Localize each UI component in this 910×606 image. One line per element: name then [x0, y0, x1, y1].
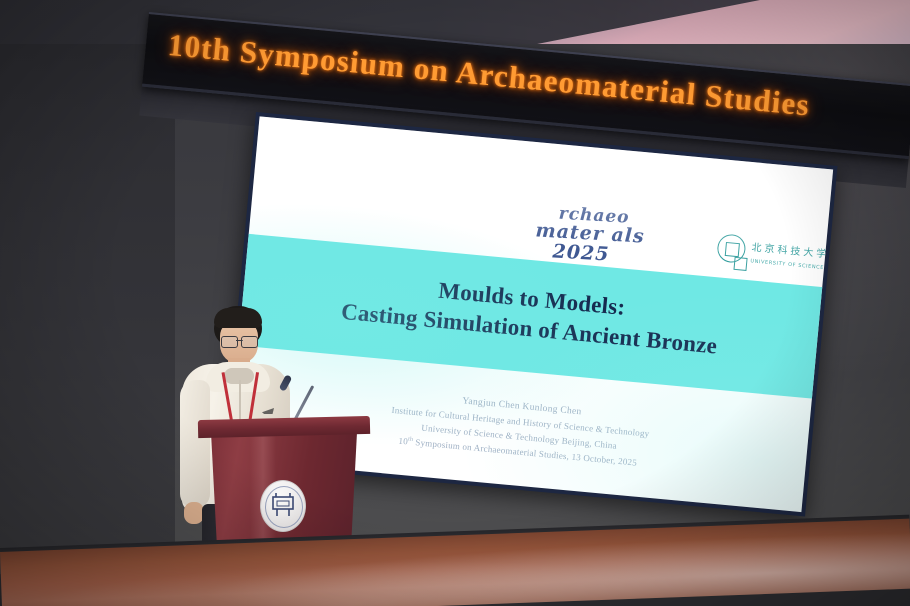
glasses-icon: [221, 336, 258, 346]
university-name-sub: UNIVERSITY OF SCIENCE AND TECHNOLOGY BEI…: [750, 258, 833, 278]
university-logo: 北京科技大学 UNIVERSITY OF SCIENCE AND TECHNOL…: [715, 231, 827, 285]
secondary-logo-icon: [733, 257, 747, 271]
hair-fringe: [214, 308, 262, 328]
lecture-hall-photo: 10th Symposium on Archaeomaterial Studie…: [0, 0, 910, 606]
university-name-cn: 北京科技大学: [751, 238, 830, 260]
glasses-lens-left: [221, 336, 238, 348]
ding-vessel-icon: [270, 491, 296, 519]
event-prefix: 10: [398, 435, 408, 446]
glasses-lens-right: [241, 336, 258, 348]
archaeomaterials-logo: rchaeo mater als 2025: [517, 203, 670, 268]
podium-crest: [260, 480, 306, 532]
